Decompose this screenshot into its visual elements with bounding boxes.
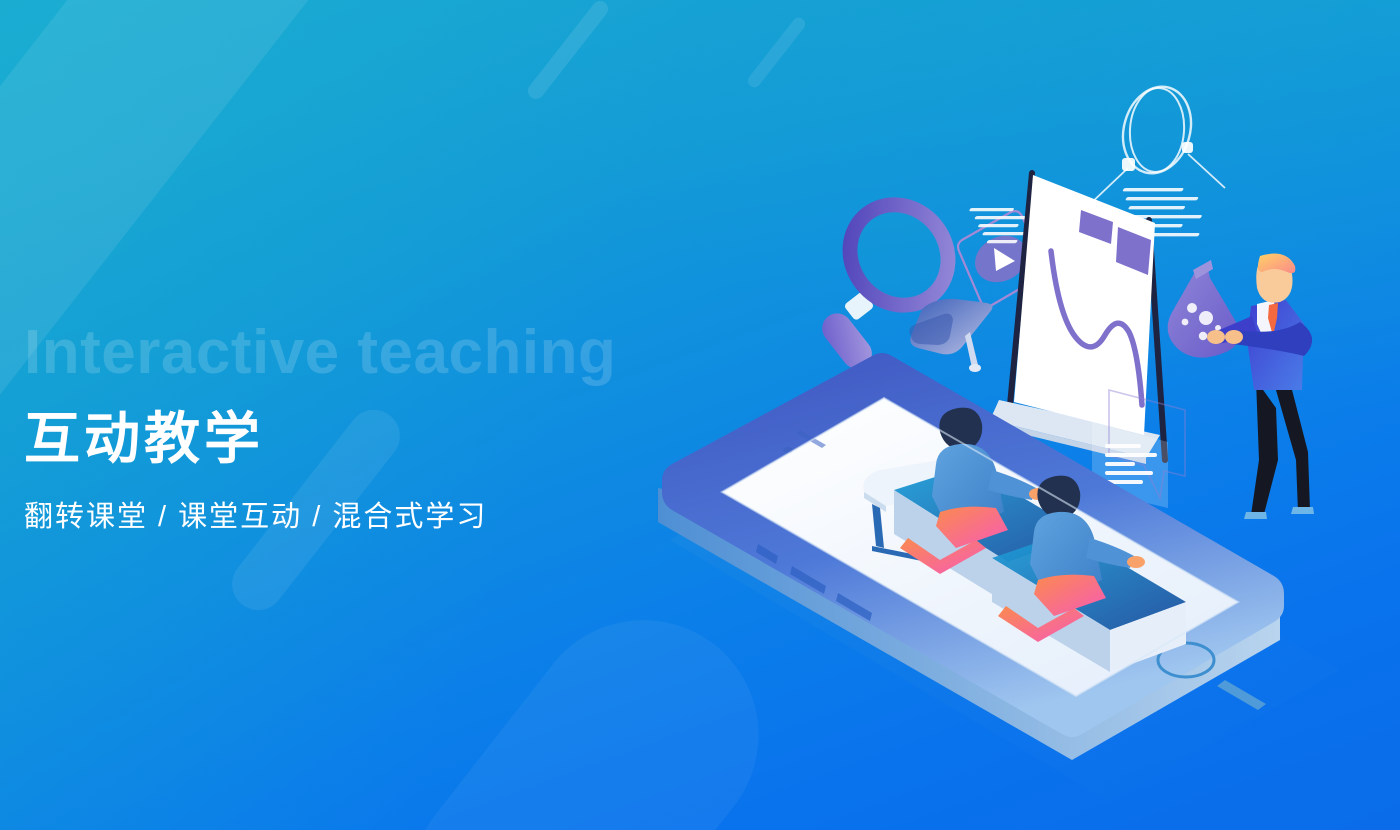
hero-banner: Interactive teaching 互动教学 翻转课堂 / 课堂互动 / … <box>0 0 1400 830</box>
orbit-atom-icon <box>1088 79 1225 206</box>
ghost-headline: Interactive teaching <box>24 322 784 384</box>
page-subtitle: 翻转课堂 / 课堂互动 / 混合式学习 <box>24 493 784 535</box>
decorative-stripe-small-1 <box>525 0 611 102</box>
hero-text-block: Interactive teaching 互动教学 翻转课堂 / 课堂互动 / … <box>24 322 784 535</box>
graduation-cap-icon <box>909 299 992 372</box>
page-title: 互动教学 <box>24 408 784 471</box>
lab-flask-icon <box>1168 260 1240 358</box>
teacher-figure <box>1168 254 1314 519</box>
